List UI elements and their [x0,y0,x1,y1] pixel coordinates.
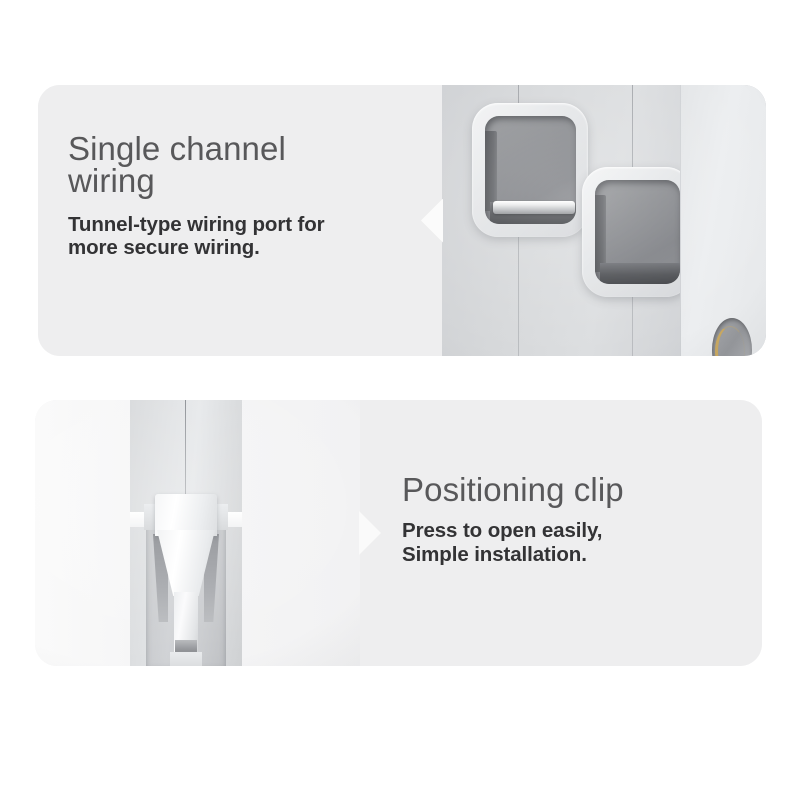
feature-headline: Single channel wiring [68,133,442,198]
clip-stage [35,400,360,666]
wiring-port-cavity [595,180,680,284]
terminal-block-wiring-ports-photo [442,85,766,356]
metal-clamp-strip [493,201,575,214]
wiring-port [582,167,692,297]
chevron-right-icon [359,511,381,555]
positioning-clip-photo [35,400,360,666]
contact-blade [595,195,606,272]
cavity-floor [600,263,680,284]
brass-ring [715,326,745,356]
terminal-block-end-cap [680,85,766,356]
feature-text-pane: Single channel wiring Tunnel-type wiring… [38,85,442,356]
wiring-port-cavity [485,116,576,224]
feature-text-pane: Positioning clip Press to open easily, S… [360,400,762,666]
feature-headline: Positioning clip [402,474,762,506]
module-foot [170,652,202,666]
contact-blade [485,131,497,211]
feature-subline: Press to open easily, Simple installatio… [402,519,762,567]
clip-head [155,494,217,536]
feature-subline: Tunnel-type wiring port for more secure … [68,213,442,261]
product-feature-page: Single channel wiring Tunnel-type wiring… [0,0,800,800]
module-body [130,400,242,666]
feature-card-single-channel-wiring: Single channel wiring Tunnel-type wiring… [38,85,766,356]
wiring-port [472,103,588,237]
terminal-block-body [442,85,766,356]
feature-card-positioning-clip: Positioning clip Press to open easily, S… [35,400,762,666]
